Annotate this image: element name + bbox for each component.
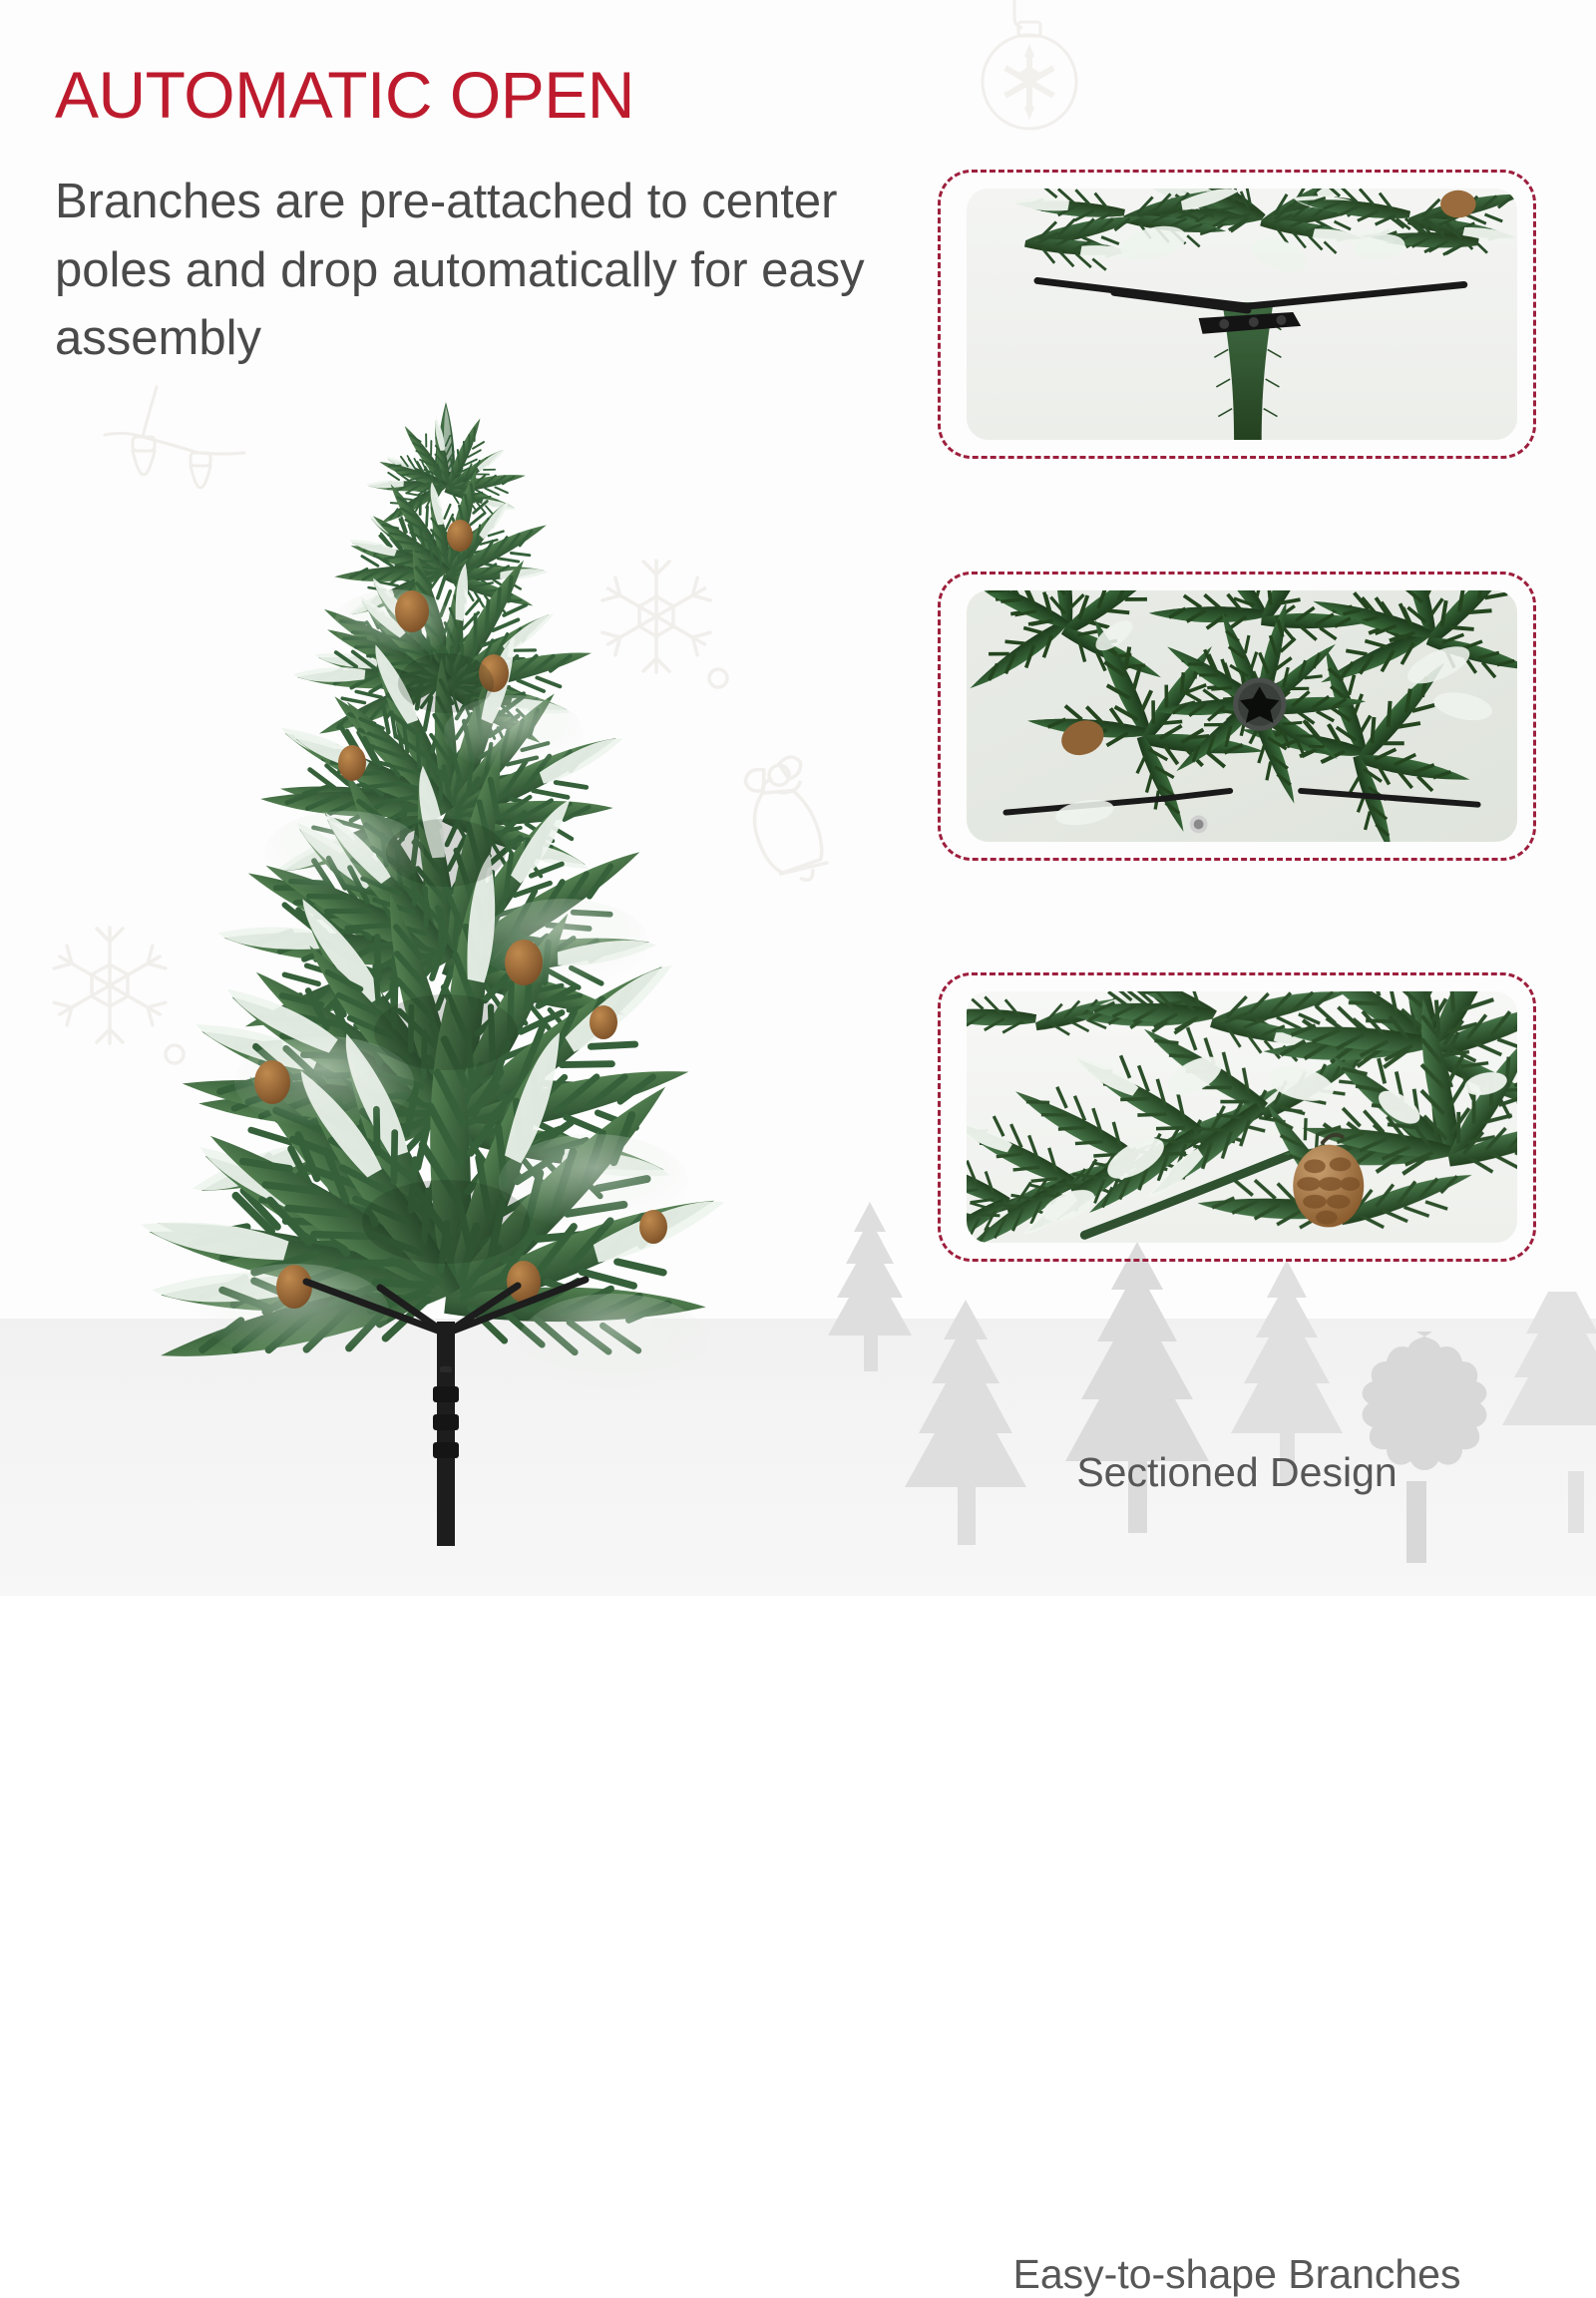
- dashed-frame: [938, 572, 1536, 861]
- sectioned-design-photo: [967, 590, 1517, 842]
- feature-cards-column: Hinge Construction: [938, 0, 1596, 1596]
- feature-card-hinge-construction: Hinge Construction: [938, 170, 1536, 459]
- page-title: AUTOMATIC OPEN: [55, 62, 634, 128]
- hinge-construction-photo: [967, 189, 1517, 440]
- dashed-frame: [938, 972, 1536, 1262]
- socket-connector: [1233, 678, 1286, 731]
- left-content-column: AUTOMATIC OPEN Branches are pre-attached…: [0, 0, 938, 1596]
- page-subtitle: Branches are pre-attached to center pole…: [55, 168, 933, 373]
- feature-card-sectioned-design: Sectioned Design: [938, 572, 1536, 861]
- product-tree-image: [95, 384, 833, 1561]
- dashed-frame: [938, 170, 1536, 459]
- easy-to-shape-branches-photo: [967, 991, 1517, 1243]
- feature-card-easy-to-shape-branches: Easy-to-shape Branches: [938, 972, 1536, 1262]
- feature-label-sectioned-design: Sectioned Design: [938, 1449, 1536, 1496]
- feature-label-easy-to-shape-branches: Easy-to-shape Branches: [898, 2251, 1576, 2298]
- center-pole: [433, 1322, 459, 1546]
